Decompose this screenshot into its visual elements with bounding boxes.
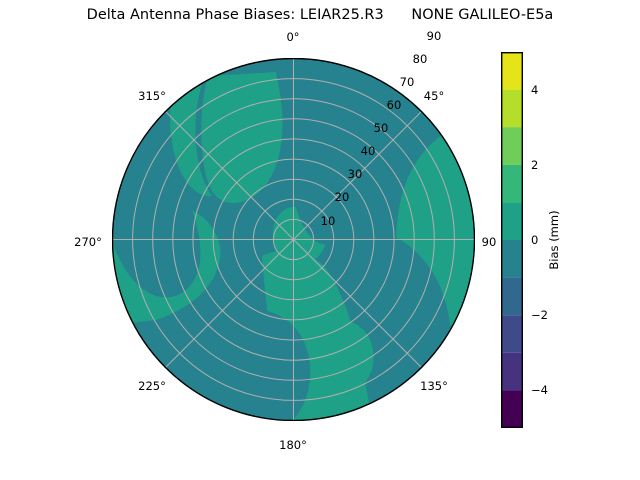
r-tick-label-50: 50 [374,121,389,135]
theta-tick-label-90: 90 [482,235,497,249]
colorbar-band-3 [501,278,523,316]
theta-tick-label-225: 225° [138,379,166,393]
figure-title: Delta Antenna Phase Biases: LEIAR25.R3 N… [0,7,640,23]
theta-tick-label-0: 0° [286,30,299,44]
colorbar-tick-label-neg-4: −4 [531,383,548,397]
colorbar-band-2 [501,315,523,353]
r-tick-label-60: 60 [387,98,402,112]
colorbar-bands [501,52,523,428]
theta-tick-label-135: 135° [420,379,448,393]
colorbar-band-9 [501,52,523,90]
colorbar-tick-label-neg-2: −2 [531,308,548,322]
r-tick-label-80: 80 [413,52,428,66]
theta-tick-label-45: 45° [424,89,444,103]
colorbar-axis-label: Bias (mm) [547,210,561,269]
r-tick-label-30: 30 [348,167,363,181]
colorbar-band-5 [501,202,523,240]
polar-axes: 10 20 30 40 50 60 70 80 90 [112,58,475,421]
colorbar-band-8 [501,90,523,128]
colorbar-band-0 [501,390,523,428]
colorbar-gradient [501,52,523,428]
theta-tick-label-270: 270° [74,235,102,249]
angular-gridlines [113,59,475,421]
figure-canvas: Delta Antenna Phase Biases: LEIAR25.R3 N… [0,0,640,480]
theta-tick-label-315: 315° [138,89,166,103]
r-tick-label-10: 10 [321,214,336,228]
r-tick-label-40: 40 [361,144,376,158]
colorbar-band-6 [501,165,523,203]
r-tick-label-90: 90 [427,29,442,43]
r-tick-label-70: 70 [400,75,415,89]
colorbar-band-7 [501,127,523,165]
colorbar-tick-label-2: 2 [531,158,538,172]
colorbar-band-1 [501,353,523,391]
polar-plot [112,58,475,421]
colorbar-tick-label-4: 4 [531,83,538,97]
theta-tick-label-180: 180° [279,438,307,452]
colorbar-tick-label-0: 0 [531,233,538,247]
r-tick-label-20: 20 [335,190,350,204]
colorbar [501,52,523,428]
colorbar-band-4 [501,240,523,278]
